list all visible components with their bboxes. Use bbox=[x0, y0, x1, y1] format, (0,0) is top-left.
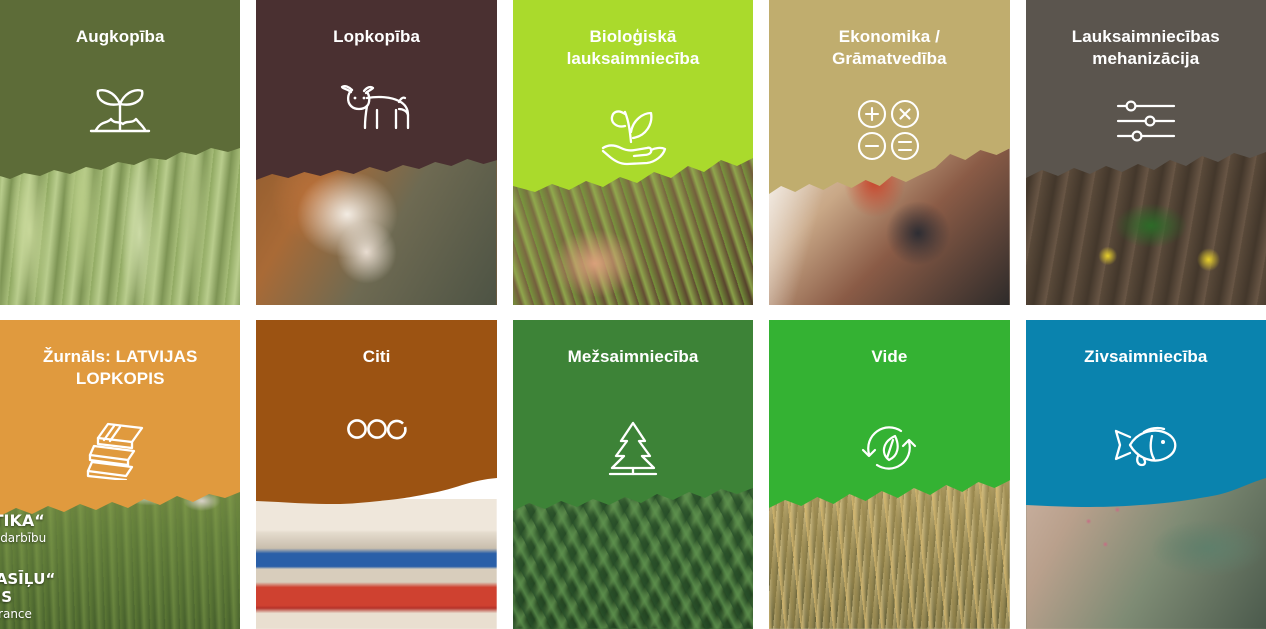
cow-icon bbox=[256, 78, 496, 140]
overlay-line-4: ALNASĪĻU“ bbox=[0, 571, 55, 589]
three-circles-icon bbox=[256, 418, 496, 440]
overlay-line-5: ZIENS bbox=[0, 589, 55, 607]
category-card-mezsaimnieciba[interactable]: Mežsaimniecība bbox=[513, 320, 753, 629]
fish-icon bbox=[1026, 418, 1266, 472]
card-title: Bioloģiskā lauksaimniecība bbox=[523, 26, 743, 71]
card-title: Augkopība bbox=[10, 26, 230, 48]
card-title: Vide bbox=[779, 346, 999, 368]
category-card-vide[interactable]: Vide bbox=[769, 320, 1009, 629]
category-card-biologiska-lauksaimnieciba[interactable]: Bioloģiskā lauksaimniecība bbox=[513, 0, 753, 305]
overlay-line-1: ENA bbox=[0, 495, 55, 513]
conifer-tree-icon bbox=[513, 418, 753, 480]
category-card-augkopiba[interactable]: Augkopība bbox=[0, 0, 240, 305]
card-title: Ekonomika / Grāmatvedība bbox=[779, 26, 999, 71]
card-title: Lopkopība bbox=[266, 26, 486, 48]
overlay-line-2: ĢISTIKA“ bbox=[0, 512, 55, 531]
category-card-lauksaimniecibas-mehanizacija[interactable]: Lauksaimniecības mehanizācija bbox=[1026, 0, 1266, 305]
category-card-ekonomika-gramatvediba[interactable]: Ekonomika / Grāmatvedība bbox=[769, 0, 1009, 305]
hand-holding-plant-icon bbox=[513, 98, 753, 170]
overlay-line-3: rsis sadarbību bbox=[0, 531, 55, 545]
card-title: Mežsaimniecība bbox=[523, 346, 743, 368]
card-title: Žurnāls: LATVIJAS LOPKOPIS bbox=[10, 346, 230, 391]
magazine-cover-overlay-text: ENA ĢISTIKA“ rsis sadarbību ALNASĪĻU“ ZI… bbox=[0, 495, 55, 621]
calculator-operators-icon bbox=[769, 98, 1009, 162]
overlay-line-6: e de France bbox=[0, 607, 55, 621]
category-card-zivsaimnieciba[interactable]: Zivsaimniecība bbox=[1026, 320, 1266, 629]
stacked-books-icon bbox=[0, 418, 240, 480]
eco-recycle-leaf-icon bbox=[769, 418, 1009, 478]
card-title: Zivsaimniecība bbox=[1036, 346, 1256, 368]
category-card-citi[interactable]: Citi bbox=[256, 320, 496, 629]
category-card-grid: Augkopība Lopkopība bbox=[0, 0, 1266, 629]
category-card-lopkopiba[interactable]: Lopkopība bbox=[256, 0, 496, 305]
category-card-zurnals-latvijas-lopkopis[interactable]: ENA ĢISTIKA“ rsis sadarbību ALNASĪĻU“ ZI… bbox=[0, 320, 240, 629]
sprout-icon bbox=[0, 78, 240, 142]
card-title: Citi bbox=[266, 346, 486, 368]
sliders-icon bbox=[1026, 98, 1266, 144]
card-title: Lauksaimniecības mehanizācija bbox=[1036, 26, 1256, 71]
